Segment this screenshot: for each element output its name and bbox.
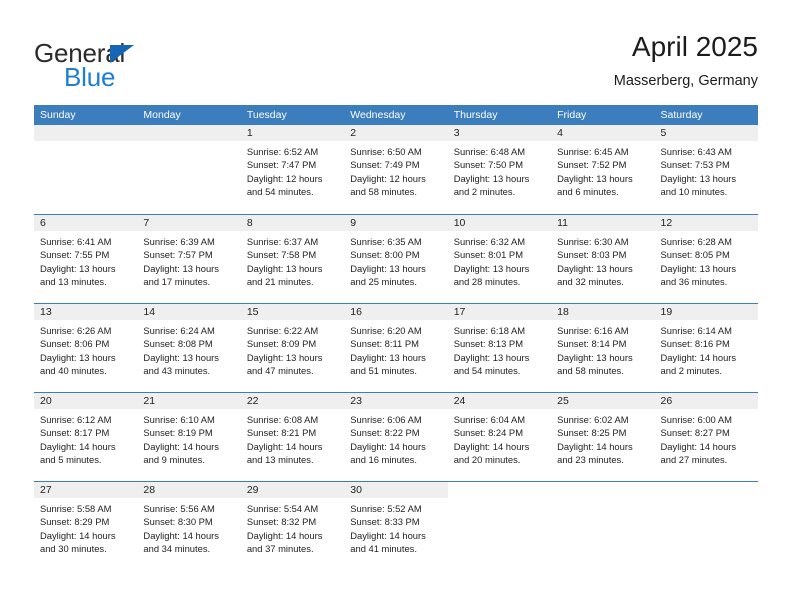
calendar-page: General Blue April 2025 Masserberg, Germ… bbox=[0, 0, 792, 612]
weekday-header-saturday: Saturday bbox=[655, 105, 758, 125]
sunrise-text: Sunrise: 6:26 AM bbox=[40, 324, 131, 337]
calendar-day-cell[interactable]: 8Sunrise: 6:37 AMSunset: 7:58 PMDaylight… bbox=[241, 215, 344, 303]
sunset-text: Sunset: 8:08 PM bbox=[143, 337, 234, 350]
day-number bbox=[551, 482, 654, 498]
calendar-day-cell-empty bbox=[655, 482, 758, 570]
day-number bbox=[137, 125, 240, 141]
calendar-day-cell[interactable]: 3Sunrise: 6:48 AMSunset: 7:50 PMDaylight… bbox=[448, 125, 551, 214]
sunrise-text: Sunrise: 6:24 AM bbox=[143, 324, 234, 337]
sunset-text: Sunset: 8:05 PM bbox=[661, 248, 752, 261]
daylight-text-line2: and 9 minutes. bbox=[143, 453, 234, 466]
sunset-text: Sunset: 8:00 PM bbox=[350, 248, 441, 261]
day-details: Sunrise: 6:22 AMSunset: 8:09 PMDaylight:… bbox=[241, 320, 344, 377]
calendar-day-cell[interactable]: 1Sunrise: 6:52 AMSunset: 7:47 PMDaylight… bbox=[241, 125, 344, 214]
calendar-day-cell[interactable]: 19Sunrise: 6:14 AMSunset: 8:16 PMDayligh… bbox=[655, 304, 758, 392]
calendar-week-row: 13Sunrise: 6:26 AMSunset: 8:06 PMDayligh… bbox=[34, 303, 758, 392]
day-number: 25 bbox=[551, 393, 654, 409]
day-number: 16 bbox=[344, 304, 447, 320]
day-number bbox=[448, 482, 551, 498]
daylight-text-line2: and 58 minutes. bbox=[557, 364, 648, 377]
sunrise-text: Sunrise: 6:00 AM bbox=[661, 413, 752, 426]
sunrise-text: Sunrise: 6:30 AM bbox=[557, 235, 648, 248]
day-details: Sunrise: 6:14 AMSunset: 8:16 PMDaylight:… bbox=[655, 320, 758, 377]
day-number: 6 bbox=[34, 215, 137, 231]
daylight-text-line2: and 13 minutes. bbox=[247, 453, 338, 466]
sunset-text: Sunset: 8:29 PM bbox=[40, 515, 131, 528]
day-details: Sunrise: 6:32 AMSunset: 8:01 PMDaylight:… bbox=[448, 231, 551, 288]
day-number: 20 bbox=[34, 393, 137, 409]
daylight-text-line1: Daylight: 14 hours bbox=[454, 440, 545, 453]
calendar-day-cell[interactable]: 12Sunrise: 6:28 AMSunset: 8:05 PMDayligh… bbox=[655, 215, 758, 303]
sunrise-text: Sunrise: 5:56 AM bbox=[143, 502, 234, 515]
sunrise-text: Sunrise: 6:28 AM bbox=[661, 235, 752, 248]
sunrise-text: Sunrise: 6:08 AM bbox=[247, 413, 338, 426]
daylight-text-line1: Daylight: 14 hours bbox=[40, 440, 131, 453]
daylight-text-line1: Daylight: 13 hours bbox=[661, 262, 752, 275]
sunrise-text: Sunrise: 6:12 AM bbox=[40, 413, 131, 426]
day-number: 26 bbox=[655, 393, 758, 409]
sunset-text: Sunset: 8:14 PM bbox=[557, 337, 648, 350]
sunrise-text: Sunrise: 6:35 AM bbox=[350, 235, 441, 248]
day-number: 24 bbox=[448, 393, 551, 409]
day-details: Sunrise: 6:35 AMSunset: 8:00 PMDaylight:… bbox=[344, 231, 447, 288]
day-number: 11 bbox=[551, 215, 654, 231]
calendar-day-cell[interactable]: 2Sunrise: 6:50 AMSunset: 7:49 PMDaylight… bbox=[344, 125, 447, 214]
page-header: General Blue April 2025 Masserberg, Germ… bbox=[34, 30, 758, 100]
sunset-text: Sunset: 7:50 PM bbox=[454, 158, 545, 171]
daylight-text-line2: and 43 minutes. bbox=[143, 364, 234, 377]
day-details: Sunrise: 6:06 AMSunset: 8:22 PMDaylight:… bbox=[344, 409, 447, 466]
day-details: Sunrise: 6:37 AMSunset: 7:58 PMDaylight:… bbox=[241, 231, 344, 288]
sunrise-text: Sunrise: 6:39 AM bbox=[143, 235, 234, 248]
weekday-header-thursday: Thursday bbox=[448, 105, 551, 125]
sunrise-text: Sunrise: 6:48 AM bbox=[454, 145, 545, 158]
sunset-text: Sunset: 8:01 PM bbox=[454, 248, 545, 261]
daylight-text-line2: and 34 minutes. bbox=[143, 542, 234, 555]
calendar-day-cell-empty bbox=[34, 125, 137, 214]
calendar-day-cell-empty bbox=[448, 482, 551, 570]
day-details: Sunrise: 6:12 AMSunset: 8:17 PMDaylight:… bbox=[34, 409, 137, 466]
calendar-day-cell-empty bbox=[137, 125, 240, 214]
sunset-text: Sunset: 8:17 PM bbox=[40, 426, 131, 439]
day-details: Sunrise: 6:16 AMSunset: 8:14 PMDaylight:… bbox=[551, 320, 654, 377]
daylight-text-line2: and 10 minutes. bbox=[661, 185, 752, 198]
day-number: 7 bbox=[137, 215, 240, 231]
calendar-day-cell[interactable]: 11Sunrise: 6:30 AMSunset: 8:03 PMDayligh… bbox=[551, 215, 654, 303]
calendar-week-row: 20Sunrise: 6:12 AMSunset: 8:17 PMDayligh… bbox=[34, 392, 758, 481]
daylight-text-line1: Daylight: 14 hours bbox=[143, 440, 234, 453]
weekday-header-row: SundayMondayTuesdayWednesdayThursdayFrid… bbox=[34, 105, 758, 125]
sunrise-text: Sunrise: 6:04 AM bbox=[454, 413, 545, 426]
calendar-day-cell[interactable]: 9Sunrise: 6:35 AMSunset: 8:00 PMDaylight… bbox=[344, 215, 447, 303]
weekday-header-wednesday: Wednesday bbox=[344, 105, 447, 125]
calendar-day-cell[interactable]: 4Sunrise: 6:45 AMSunset: 7:52 PMDaylight… bbox=[551, 125, 654, 214]
day-number: 19 bbox=[655, 304, 758, 320]
day-details: Sunrise: 6:00 AMSunset: 8:27 PMDaylight:… bbox=[655, 409, 758, 466]
sunset-text: Sunset: 7:52 PM bbox=[557, 158, 648, 171]
day-number bbox=[34, 125, 137, 141]
sunset-text: Sunset: 7:58 PM bbox=[247, 248, 338, 261]
sunset-text: Sunset: 8:25 PM bbox=[557, 426, 648, 439]
calendar-day-cell[interactable]: 22Sunrise: 6:08 AMSunset: 8:21 PMDayligh… bbox=[241, 393, 344, 481]
sunset-text: Sunset: 7:47 PM bbox=[247, 158, 338, 171]
day-details: Sunrise: 6:10 AMSunset: 8:19 PMDaylight:… bbox=[137, 409, 240, 466]
daylight-text-line1: Daylight: 13 hours bbox=[247, 351, 338, 364]
sunrise-text: Sunrise: 6:37 AM bbox=[247, 235, 338, 248]
day-number: 30 bbox=[344, 482, 447, 498]
title-block: April 2025 Masserberg, Germany bbox=[614, 30, 758, 92]
daylight-text-line2: and 5 minutes. bbox=[40, 453, 131, 466]
sunset-text: Sunset: 8:30 PM bbox=[143, 515, 234, 528]
daylight-text-line2: and 20 minutes. bbox=[454, 453, 545, 466]
daylight-text-line1: Daylight: 13 hours bbox=[247, 262, 338, 275]
daylight-text-line1: Daylight: 13 hours bbox=[454, 351, 545, 364]
sunrise-text: Sunrise: 6:02 AM bbox=[557, 413, 648, 426]
day-number: 12 bbox=[655, 215, 758, 231]
daylight-text-line2: and 36 minutes. bbox=[661, 275, 752, 288]
sunset-text: Sunset: 7:55 PM bbox=[40, 248, 131, 261]
daylight-text-line1: Daylight: 13 hours bbox=[557, 262, 648, 275]
sunset-text: Sunset: 8:13 PM bbox=[454, 337, 545, 350]
sunrise-text: Sunrise: 6:52 AM bbox=[247, 145, 338, 158]
sunrise-text: Sunrise: 6:16 AM bbox=[557, 324, 648, 337]
day-number: 1 bbox=[241, 125, 344, 141]
day-number: 3 bbox=[448, 125, 551, 141]
sunset-text: Sunset: 8:32 PM bbox=[247, 515, 338, 528]
page-subtitle: Masserberg, Germany bbox=[614, 70, 758, 92]
daylight-text-line2: and 2 minutes. bbox=[661, 364, 752, 377]
sunrise-text: Sunrise: 6:22 AM bbox=[247, 324, 338, 337]
day-details: Sunrise: 5:56 AMSunset: 8:30 PMDaylight:… bbox=[137, 498, 240, 555]
sunrise-text: Sunrise: 6:14 AM bbox=[661, 324, 752, 337]
sunset-text: Sunset: 8:16 PM bbox=[661, 337, 752, 350]
sunset-text: Sunset: 7:57 PM bbox=[143, 248, 234, 261]
logo-text-blue: Blue bbox=[64, 62, 115, 93]
daylight-text-line2: and 21 minutes. bbox=[247, 275, 338, 288]
calendar-day-cell[interactable]: 10Sunrise: 6:32 AMSunset: 8:01 PMDayligh… bbox=[448, 215, 551, 303]
daylight-text-line2: and 2 minutes. bbox=[454, 185, 545, 198]
day-details: Sunrise: 6:41 AMSunset: 7:55 PMDaylight:… bbox=[34, 231, 137, 288]
daylight-text-line2: and 13 minutes. bbox=[40, 275, 131, 288]
sunrise-text: Sunrise: 6:18 AM bbox=[454, 324, 545, 337]
calendar-day-cell[interactable]: 16Sunrise: 6:20 AMSunset: 8:11 PMDayligh… bbox=[344, 304, 447, 392]
daylight-text-line1: Daylight: 12 hours bbox=[350, 172, 441, 185]
day-details: Sunrise: 6:20 AMSunset: 8:11 PMDaylight:… bbox=[344, 320, 447, 377]
day-number: 8 bbox=[241, 215, 344, 231]
sunrise-text: Sunrise: 6:41 AM bbox=[40, 235, 131, 248]
sunrise-text: Sunrise: 6:32 AM bbox=[454, 235, 545, 248]
daylight-text-line2: and 16 minutes. bbox=[350, 453, 441, 466]
day-number: 21 bbox=[137, 393, 240, 409]
daylight-text-line2: and 17 minutes. bbox=[143, 275, 234, 288]
daylight-text-line2: and 41 minutes. bbox=[350, 542, 441, 555]
day-details: Sunrise: 6:43 AMSunset: 7:53 PMDaylight:… bbox=[655, 141, 758, 198]
daylight-text-line1: Daylight: 13 hours bbox=[350, 351, 441, 364]
day-details: Sunrise: 6:39 AMSunset: 7:57 PMDaylight:… bbox=[137, 231, 240, 288]
daylight-text-line1: Daylight: 13 hours bbox=[143, 262, 234, 275]
day-details: Sunrise: 6:52 AMSunset: 7:47 PMDaylight:… bbox=[241, 141, 344, 198]
daylight-text-line2: and 32 minutes. bbox=[557, 275, 648, 288]
calendar-week-row: 6Sunrise: 6:41 AMSunset: 7:55 PMDaylight… bbox=[34, 214, 758, 303]
sunset-text: Sunset: 8:22 PM bbox=[350, 426, 441, 439]
day-number: 28 bbox=[137, 482, 240, 498]
daylight-text-line1: Daylight: 13 hours bbox=[557, 351, 648, 364]
weekday-header-sunday: Sunday bbox=[34, 105, 137, 125]
daylight-text-line2: and 54 minutes. bbox=[247, 185, 338, 198]
day-details: Sunrise: 6:30 AMSunset: 8:03 PMDaylight:… bbox=[551, 231, 654, 288]
day-details: Sunrise: 6:24 AMSunset: 8:08 PMDaylight:… bbox=[137, 320, 240, 377]
calendar-day-cell[interactable]: 13Sunrise: 6:26 AMSunset: 8:06 PMDayligh… bbox=[34, 304, 137, 392]
sunrise-text: Sunrise: 6:45 AM bbox=[557, 145, 648, 158]
day-number: 14 bbox=[137, 304, 240, 320]
day-number: 15 bbox=[241, 304, 344, 320]
day-number: 22 bbox=[241, 393, 344, 409]
general-blue-logo: General Blue bbox=[34, 32, 234, 94]
sunset-text: Sunset: 8:11 PM bbox=[350, 337, 441, 350]
daylight-text-line2: and 6 minutes. bbox=[557, 185, 648, 198]
sunset-text: Sunset: 8:33 PM bbox=[350, 515, 441, 528]
sunset-text: Sunset: 8:09 PM bbox=[247, 337, 338, 350]
day-details: Sunrise: 5:58 AMSunset: 8:29 PMDaylight:… bbox=[34, 498, 137, 555]
day-number: 10 bbox=[448, 215, 551, 231]
day-details: Sunrise: 6:04 AMSunset: 8:24 PMDaylight:… bbox=[448, 409, 551, 466]
calendar-day-cell[interactable]: 26Sunrise: 6:00 AMSunset: 8:27 PMDayligh… bbox=[655, 393, 758, 481]
logo-triangle-icon bbox=[110, 45, 134, 63]
daylight-text-line1: Daylight: 14 hours bbox=[661, 440, 752, 453]
daylight-text-line1: Daylight: 13 hours bbox=[350, 262, 441, 275]
daylight-text-line2: and 28 minutes. bbox=[454, 275, 545, 288]
day-details: Sunrise: 6:26 AMSunset: 8:06 PMDaylight:… bbox=[34, 320, 137, 377]
daylight-text-line1: Daylight: 14 hours bbox=[247, 529, 338, 542]
sunset-text: Sunset: 8:24 PM bbox=[454, 426, 545, 439]
daylight-text-line1: Daylight: 14 hours bbox=[661, 351, 752, 364]
daylight-text-line1: Daylight: 13 hours bbox=[661, 172, 752, 185]
calendar-day-cell[interactable]: 5Sunrise: 6:43 AMSunset: 7:53 PMDaylight… bbox=[655, 125, 758, 214]
daylight-text-line1: Daylight: 13 hours bbox=[40, 351, 131, 364]
daylight-text-line1: Daylight: 14 hours bbox=[557, 440, 648, 453]
calendar-day-cell[interactable]: 28Sunrise: 5:56 AMSunset: 8:30 PMDayligh… bbox=[137, 482, 240, 570]
daylight-text-line2: and 23 minutes. bbox=[557, 453, 648, 466]
day-number bbox=[655, 482, 758, 498]
daylight-text-line1: Daylight: 14 hours bbox=[247, 440, 338, 453]
calendar-day-cell[interactable]: 14Sunrise: 6:24 AMSunset: 8:08 PMDayligh… bbox=[137, 304, 240, 392]
day-number: 5 bbox=[655, 125, 758, 141]
day-details: Sunrise: 6:02 AMSunset: 8:25 PMDaylight:… bbox=[551, 409, 654, 466]
sunset-text: Sunset: 8:03 PM bbox=[557, 248, 648, 261]
daylight-text-line2: and 54 minutes. bbox=[454, 364, 545, 377]
day-details: Sunrise: 5:54 AMSunset: 8:32 PMDaylight:… bbox=[241, 498, 344, 555]
daylight-text-line1: Daylight: 14 hours bbox=[350, 529, 441, 542]
calendar-day-cell[interactable]: 30Sunrise: 5:52 AMSunset: 8:33 PMDayligh… bbox=[344, 482, 447, 570]
day-details: Sunrise: 5:52 AMSunset: 8:33 PMDaylight:… bbox=[344, 498, 447, 555]
daylight-text-line2: and 51 minutes. bbox=[350, 364, 441, 377]
calendar-day-cell[interactable]: 20Sunrise: 6:12 AMSunset: 8:17 PMDayligh… bbox=[34, 393, 137, 481]
weekday-header-tuesday: Tuesday bbox=[241, 105, 344, 125]
day-number: 9 bbox=[344, 215, 447, 231]
sunset-text: Sunset: 8:19 PM bbox=[143, 426, 234, 439]
day-number: 29 bbox=[241, 482, 344, 498]
daylight-text-line2: and 47 minutes. bbox=[247, 364, 338, 377]
calendar-week-row: 1Sunrise: 6:52 AMSunset: 7:47 PMDaylight… bbox=[34, 125, 758, 214]
daylight-text-line2: and 40 minutes. bbox=[40, 364, 131, 377]
day-number: 2 bbox=[344, 125, 447, 141]
sunrise-text: Sunrise: 6:06 AM bbox=[350, 413, 441, 426]
sunrise-text: Sunrise: 6:50 AM bbox=[350, 145, 441, 158]
sunrise-text: Sunrise: 5:58 AM bbox=[40, 502, 131, 515]
sunset-text: Sunset: 7:49 PM bbox=[350, 158, 441, 171]
calendar-day-cell[interactable]: 27Sunrise: 5:58 AMSunset: 8:29 PMDayligh… bbox=[34, 482, 137, 570]
daylight-text-line1: Daylight: 14 hours bbox=[350, 440, 441, 453]
day-number: 17 bbox=[448, 304, 551, 320]
calendar-day-cell[interactable]: 25Sunrise: 6:02 AMSunset: 8:25 PMDayligh… bbox=[551, 393, 654, 481]
sunset-text: Sunset: 8:21 PM bbox=[247, 426, 338, 439]
sunrise-text: Sunrise: 5:54 AM bbox=[247, 502, 338, 515]
calendar-grid: SundayMondayTuesdayWednesdayThursdayFrid… bbox=[34, 105, 758, 570]
calendar-day-cell-empty bbox=[551, 482, 654, 570]
calendar-day-cell[interactable]: 23Sunrise: 6:06 AMSunset: 8:22 PMDayligh… bbox=[344, 393, 447, 481]
calendar-day-cell[interactable]: 24Sunrise: 6:04 AMSunset: 8:24 PMDayligh… bbox=[448, 393, 551, 481]
calendar-day-cell[interactable]: 15Sunrise: 6:22 AMSunset: 8:09 PMDayligh… bbox=[241, 304, 344, 392]
page-title: April 2025 bbox=[614, 30, 758, 64]
day-details: Sunrise: 6:48 AMSunset: 7:50 PMDaylight:… bbox=[448, 141, 551, 198]
day-number: 23 bbox=[344, 393, 447, 409]
sunset-text: Sunset: 7:53 PM bbox=[661, 158, 752, 171]
sunset-text: Sunset: 8:06 PM bbox=[40, 337, 131, 350]
day-number: 27 bbox=[34, 482, 137, 498]
sunset-text: Sunset: 8:27 PM bbox=[661, 426, 752, 439]
weekday-header-monday: Monday bbox=[137, 105, 240, 125]
daylight-text-line2: and 25 minutes. bbox=[350, 275, 441, 288]
daylight-text-line1: Daylight: 13 hours bbox=[454, 172, 545, 185]
daylight-text-line2: and 58 minutes. bbox=[350, 185, 441, 198]
sunrise-text: Sunrise: 6:43 AM bbox=[661, 145, 752, 158]
day-details: Sunrise: 6:50 AMSunset: 7:49 PMDaylight:… bbox=[344, 141, 447, 198]
calendar-day-cell[interactable]: 17Sunrise: 6:18 AMSunset: 8:13 PMDayligh… bbox=[448, 304, 551, 392]
day-number: 4 bbox=[551, 125, 654, 141]
calendar-day-cell[interactable]: 6Sunrise: 6:41 AMSunset: 7:55 PMDaylight… bbox=[34, 215, 137, 303]
daylight-text-line1: Daylight: 14 hours bbox=[40, 529, 131, 542]
day-details: Sunrise: 6:45 AMSunset: 7:52 PMDaylight:… bbox=[551, 141, 654, 198]
sunrise-text: Sunrise: 6:10 AM bbox=[143, 413, 234, 426]
daylight-text-line2: and 37 minutes. bbox=[247, 542, 338, 555]
weekday-header-friday: Friday bbox=[551, 105, 654, 125]
daylight-text-line1: Daylight: 13 hours bbox=[557, 172, 648, 185]
calendar-day-cell[interactable]: 7Sunrise: 6:39 AMSunset: 7:57 PMDaylight… bbox=[137, 215, 240, 303]
day-details: Sunrise: 6:08 AMSunset: 8:21 PMDaylight:… bbox=[241, 409, 344, 466]
daylight-text-line1: Daylight: 12 hours bbox=[247, 172, 338, 185]
daylight-text-line2: and 30 minutes. bbox=[40, 542, 131, 555]
daylight-text-line1: Daylight: 13 hours bbox=[143, 351, 234, 364]
calendar-day-cell[interactable]: 29Sunrise: 5:54 AMSunset: 8:32 PMDayligh… bbox=[241, 482, 344, 570]
daylight-text-line1: Daylight: 14 hours bbox=[143, 529, 234, 542]
calendar-weeks: 1Sunrise: 6:52 AMSunset: 7:47 PMDaylight… bbox=[34, 125, 758, 570]
daylight-text-line1: Daylight: 13 hours bbox=[454, 262, 545, 275]
day-details: Sunrise: 6:18 AMSunset: 8:13 PMDaylight:… bbox=[448, 320, 551, 377]
calendar-week-row: 27Sunrise: 5:58 AMSunset: 8:29 PMDayligh… bbox=[34, 481, 758, 570]
calendar-day-cell[interactable]: 18Sunrise: 6:16 AMSunset: 8:14 PMDayligh… bbox=[551, 304, 654, 392]
calendar-day-cell[interactable]: 21Sunrise: 6:10 AMSunset: 8:19 PMDayligh… bbox=[137, 393, 240, 481]
day-number: 13 bbox=[34, 304, 137, 320]
daylight-text-line1: Daylight: 13 hours bbox=[40, 262, 131, 275]
sunrise-text: Sunrise: 5:52 AM bbox=[350, 502, 441, 515]
sunrise-text: Sunrise: 6:20 AM bbox=[350, 324, 441, 337]
day-number: 18 bbox=[551, 304, 654, 320]
daylight-text-line2: and 27 minutes. bbox=[661, 453, 752, 466]
day-details: Sunrise: 6:28 AMSunset: 8:05 PMDaylight:… bbox=[655, 231, 758, 288]
